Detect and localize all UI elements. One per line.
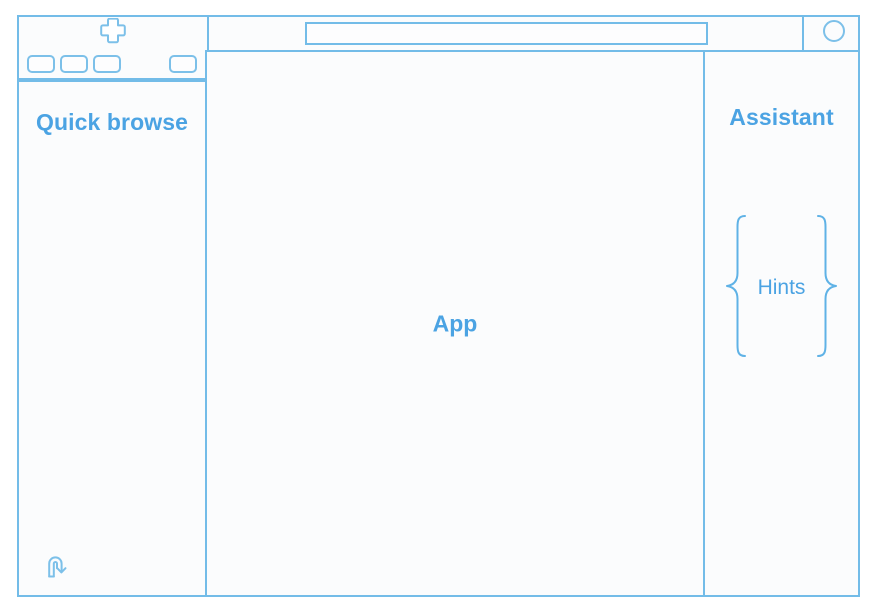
address-bar-cell [211, 17, 804, 50]
hints-label: Hints [749, 276, 815, 300]
wireframe-root: Quick browse App Assistant [17, 15, 860, 597]
address-input[interactable] [305, 22, 708, 45]
account-button[interactable] [806, 17, 862, 50]
sidebar-title: Quick browse [19, 108, 205, 137]
hints-block: Hints [705, 212, 858, 364]
assistant-panel: Assistant Hints [703, 50, 860, 597]
open-brace-icon [723, 213, 749, 364]
columns-row: Quick browse App Assistant [17, 50, 860, 597]
app-panel: App [205, 50, 705, 597]
circle-avatar-icon [822, 19, 846, 48]
assistant-title: Assistant [705, 104, 858, 131]
sidebar-panel: Quick browse [17, 80, 207, 597]
close-brace-icon [814, 213, 840, 364]
restore-button[interactable] [39, 551, 77, 585]
plus-icon [100, 18, 126, 49]
u-turn-arrow-icon [43, 551, 73, 586]
new-tab-button[interactable] [19, 17, 209, 50]
app-label: App [207, 310, 703, 337]
top-chrome-bar [17, 15, 860, 52]
